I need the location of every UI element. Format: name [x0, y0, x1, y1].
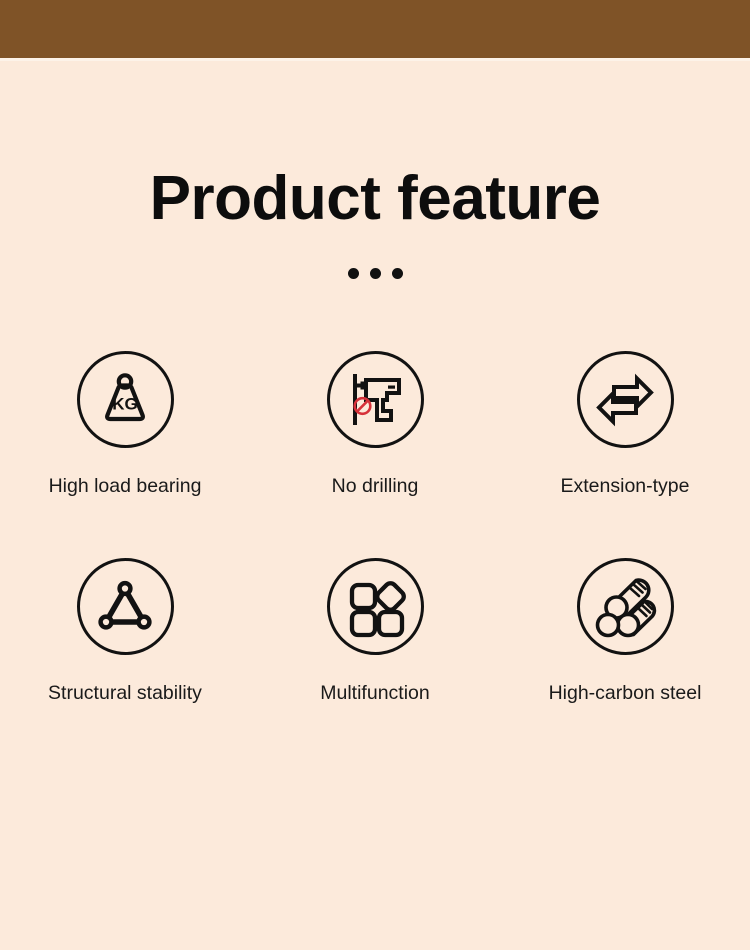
feature-row-1: KG High load bearing: [0, 351, 750, 498]
product-feature-page: Product feature KG: [0, 0, 750, 950]
no-drilling-icon: [327, 351, 424, 448]
feature-item-high-carbon-steel: High-carbon steel: [500, 558, 750, 705]
top-brown-band: [0, 0, 750, 58]
weight-kg-icon: KG: [77, 351, 174, 448]
steel-bars-icon: [577, 558, 674, 655]
title-divider-dots: [0, 268, 750, 279]
weight-kg-label: KG: [112, 394, 138, 413]
triangle-nodes-icon: [77, 558, 174, 655]
prohibition-sign-icon: [355, 398, 371, 414]
feature-grid: KG High load bearing: [0, 351, 750, 705]
feature-item-structural-stability: Structural stability: [0, 558, 250, 705]
feature-label: Multifunction: [320, 682, 429, 705]
feature-item-extension-type: Extension-type: [500, 351, 750, 498]
four-shapes-icon: [327, 558, 424, 655]
feature-row-2: Structural stability Mult: [0, 558, 750, 705]
feature-label: Structural stability: [48, 682, 202, 705]
bidirectional-arrow-icon: [577, 351, 674, 448]
feature-label: No drilling: [332, 475, 419, 498]
divider-dot: [392, 268, 403, 279]
feature-label: High load bearing: [49, 475, 202, 498]
divider-dot: [370, 268, 381, 279]
content-area: Product feature KG: [0, 61, 750, 950]
feature-item-no-drilling: No drilling: [250, 351, 500, 498]
feature-item-high-load-bearing: KG High load bearing: [0, 351, 250, 498]
feature-item-multifunction: Multifunction: [250, 558, 500, 705]
feature-label: Extension-type: [561, 475, 690, 498]
feature-label: High-carbon steel: [549, 682, 702, 705]
divider-dot: [348, 268, 359, 279]
page-title: Product feature: [0, 168, 750, 230]
